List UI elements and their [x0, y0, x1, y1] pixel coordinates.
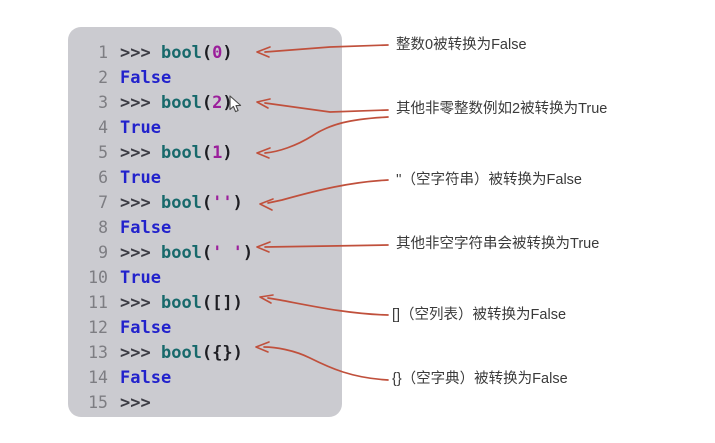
code-line: 2False [68, 65, 342, 90]
code-token-prompt: >>> [120, 93, 151, 113]
code-token-function: bool [161, 193, 202, 213]
code-token-boolean: True [120, 268, 161, 288]
code-token-boolean: True [120, 118, 161, 138]
screenshot-canvas: 1>>> bool(0)2False3>>> bool(2)4True5>>> … [0, 0, 715, 443]
code-line-number: 10 [68, 265, 108, 290]
code-token-prompt: >>> [120, 343, 151, 363]
code-line-text: >>> bool(' ') [120, 241, 253, 266]
code-line: 9>>> bool(' ') [68, 240, 342, 265]
code-line: 13>>> bool({}) [68, 340, 342, 365]
code-line: 7>>> bool('') [68, 190, 342, 215]
code-token-boolean: False [120, 318, 171, 338]
code-token-paren: ) [233, 293, 243, 313]
code-line-number: 4 [68, 115, 108, 140]
code-line: 3>>> bool(2) [68, 90, 342, 115]
code-line-text: True [120, 166, 161, 191]
code-line-list: 1>>> bool(0)2False3>>> bool(2)4True5>>> … [68, 40, 342, 415]
code-token-function: bool [161, 243, 202, 263]
code-line-number: 14 [68, 365, 108, 390]
code-line-number: 7 [68, 190, 108, 215]
code-line-text: >>> bool('') [120, 191, 243, 216]
code-token-prompt: >>> [120, 293, 151, 313]
code-line-text: >>> bool({}) [120, 341, 243, 366]
code-token-prompt: >>> [120, 393, 151, 413]
code-line: 12False [68, 315, 342, 340]
code-token-function: bool [161, 293, 202, 313]
code-line: 14False [68, 365, 342, 390]
code-line-number: 6 [68, 165, 108, 190]
code-line-number: 15 [68, 390, 108, 415]
code-token-paren: ( [202, 293, 212, 313]
code-token-paren: ( [202, 243, 212, 263]
code-token-boolean: False [120, 218, 171, 238]
code-line-text: False [120, 316, 171, 341]
code-token-paren: ) [233, 193, 243, 213]
code-line-text: >>> bool([]) [120, 291, 243, 316]
code-token-function: bool [161, 343, 202, 363]
code-token-paren: ) [233, 343, 243, 363]
code-token-paren: ( [202, 93, 212, 113]
code-token-prompt: >>> [120, 43, 151, 63]
code-line-number: 3 [68, 90, 108, 115]
code-line: 4True [68, 115, 342, 140]
code-line-number: 11 [68, 290, 108, 315]
code-token-argument: '' [212, 193, 232, 213]
code-line-number: 12 [68, 315, 108, 340]
code-line-number: 1 [68, 40, 108, 65]
code-line: 6True [68, 165, 342, 190]
code-token-paren: ) [222, 143, 232, 163]
annotation-label-empty-string: ''（空字符串）被转换为False [396, 173, 582, 188]
code-token-boolean: True [120, 168, 161, 188]
code-token-argument: 0 [212, 43, 222, 63]
annotation-label-nonempty-string: 其他非空字符串会被转换为True [396, 237, 599, 252]
code-line-text: >>> [120, 391, 151, 416]
code-token-boolean: False [120, 68, 171, 88]
annotation-label-nonzero-int: 其他非零整数例如2被转换为True [396, 102, 607, 117]
code-line-text: True [120, 266, 161, 291]
code-line-number: 9 [68, 240, 108, 265]
code-line-number: 13 [68, 340, 108, 365]
code-token-paren: ) [243, 243, 253, 263]
code-token-function: bool [161, 43, 202, 63]
code-line-text: >>> bool(2) [120, 91, 233, 116]
python-repl-code-block: 1>>> bool(0)2False3>>> bool(2)4True5>>> … [68, 27, 342, 417]
code-line: 5>>> bool(1) [68, 140, 342, 165]
code-line-text: True [120, 116, 161, 141]
annotation-label-int-zero: 整数0被转换为False [396, 38, 527, 53]
mouse-pointer-icon [229, 95, 243, 113]
code-line-number: 8 [68, 215, 108, 240]
code-line: 10True [68, 265, 342, 290]
code-line-text: False [120, 66, 171, 91]
code-line: 1>>> bool(0) [68, 40, 342, 65]
code-token-paren: ) [222, 43, 232, 63]
code-token-argument: ' ' [212, 243, 243, 263]
code-token-prompt: >>> [120, 243, 151, 263]
code-token-boolean: False [120, 368, 171, 388]
code-token-paren: ( [202, 193, 212, 213]
code-token-function: bool [161, 143, 202, 163]
code-token-argument: 2 [212, 93, 222, 113]
code-token-paren: ( [202, 43, 212, 63]
code-token-paren: ( [202, 343, 212, 363]
code-token-argument: 1 [212, 143, 222, 163]
code-line: 11>>> bool([]) [68, 290, 342, 315]
code-token-prompt: >>> [120, 193, 151, 213]
code-line: 15>>> [68, 390, 342, 415]
code-token-function: bool [161, 93, 202, 113]
annotation-label-empty-list: []（空列表）被转换为False [392, 308, 566, 323]
code-line-text: >>> bool(0) [120, 41, 233, 66]
code-token-prompt: >>> [120, 143, 151, 163]
annotation-label-empty-dict: {}（空字典）被转换为False [392, 372, 568, 387]
code-line-number: 5 [68, 140, 108, 165]
code-line-text: False [120, 216, 171, 241]
code-token-argument: [] [212, 293, 232, 313]
code-line: 8False [68, 215, 342, 240]
code-line-text: >>> bool(1) [120, 141, 233, 166]
code-token-argument: {} [212, 343, 232, 363]
code-token-paren: ( [202, 143, 212, 163]
code-line-text: False [120, 366, 171, 391]
code-line-number: 2 [68, 65, 108, 90]
